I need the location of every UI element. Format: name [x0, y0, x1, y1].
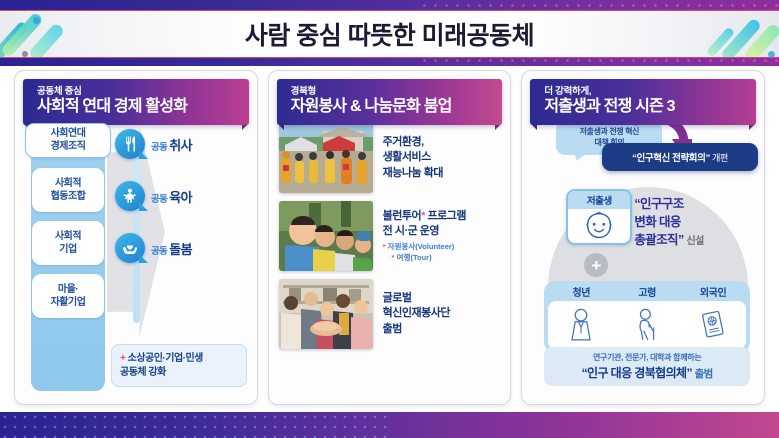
passport-icon: [680, 304, 746, 346]
volunteer-tent-photo: [279, 123, 373, 193]
panel1-footer-line1: 소상공인·기업·민생: [128, 353, 203, 364]
page-title: 사람 중심 따뜻한 미래공동체: [245, 16, 534, 52]
target-group-row: 청년 고령 외국인: [544, 281, 750, 353]
decor-bar-right-2: [743, 22, 779, 58]
media-caption: 글로벌혁신인재봉사단출범: [383, 291, 450, 337]
organization-column: 사회연대경제조직 사회적협동조합 사회적기업 마을·자활기업: [25, 123, 111, 395]
list-item[interactable]: 공동취사: [115, 129, 247, 159]
org-chip-list: 사회적협동조합 사회적기업 마을·자활기업: [25, 168, 111, 318]
panel1-title: 사회적 연대 경제 활성화: [37, 98, 249, 117]
target-label-foreigner: 외국인: [680, 284, 746, 301]
children-group-selfie-photo: [279, 201, 373, 271]
hands-together-photo: [279, 279, 373, 349]
panel3-footer-line1: 연구기관, 전문가, 대학과 함께하는: [548, 352, 746, 363]
list-item[interactable]: 공동돌봄: [115, 233, 247, 263]
panel3-footer-quoted: “인구 대응 경북협의체”: [582, 366, 692, 380]
baby-face-icon: [568, 209, 630, 243]
new-council-tail: 개편: [712, 153, 728, 163]
org-chip-coop[interactable]: 사회적협동조합: [32, 168, 104, 212]
panel3-body: 저출생과 전쟁 혁신대책 회의 “인구혁신 전략회의” 개편 저출생: [522, 115, 764, 397]
panel3-footer-line2: “인구 대응 경북협의체” 출범: [548, 364, 746, 381]
list-item-label: 공동취사: [151, 135, 192, 154]
target-label-elderly: 고령: [614, 284, 680, 301]
new-council-box: “인구혁신 전략회의” 개편: [602, 143, 758, 171]
baby-icon: [115, 181, 145, 211]
bottom-band: [0, 412, 779, 438]
list-item[interactable]: 볼런투어* 프로그램전 시·군 운영 * 자원봉사(Volunteer) * 여…: [279, 201, 501, 271]
target-group-icons: [548, 301, 746, 349]
list-item[interactable]: 공동육아: [115, 181, 247, 211]
media-caption: 볼런투어* 프로그램전 시·군 운영: [383, 209, 466, 239]
title-strip: 사람 중심 따뜻한 미래공동체: [0, 10, 779, 58]
org-header-chip: 사회연대경제조직: [25, 123, 111, 158]
panel1-ribbon-header: 공동체 중심 사회적 연대 경제 활성화: [23, 79, 249, 125]
panel-social-economy: 공동체 중심 사회적 연대 경제 활성화 사회연대경제조직 사회적협동조합 사회…: [14, 70, 258, 405]
bottom-dot-pattern: [0, 412, 390, 438]
elderly-person-icon: [614, 304, 680, 346]
panel2-title: 자원봉사 & 나눔문화 붐업: [291, 98, 503, 117]
young-person-icon: [548, 304, 614, 346]
decor-bar-left-2: [0, 12, 44, 58]
birthrate-card: 저출생: [566, 189, 632, 245]
list-item-label: 공동돌봄: [151, 239, 192, 258]
cutlery-icon: [115, 129, 145, 159]
decor-dot-left-1: [33, 17, 40, 24]
decor-bar-right-1: [720, 17, 762, 58]
new-org-text: “인구구조 변화 대응 총괄조직” 신설: [634, 195, 756, 250]
shared-service-list: 공동취사 공동육아 공동돌봄: [115, 123, 247, 263]
panel3-title: 저출생과 전쟁 시즌 3: [544, 98, 756, 117]
caring-hands-icon: [115, 233, 145, 263]
panel-birthrate-war: 더 강력하게, 저출생과 전쟁 시즌 3 저출생과 전쟁 혁신대책 회의 “인구…: [521, 70, 765, 405]
target-group-labels: 청년 고령 외국인: [548, 284, 746, 301]
org-chip-village[interactable]: 마을·자활기업: [32, 274, 104, 318]
decor-dot-right-1: [768, 51, 775, 58]
new-org-line2: 변화 대응: [634, 215, 680, 229]
panel1-footer-note: + 소상공인·기업·민생 공동체 강화: [111, 344, 247, 387]
panel3-footer-tail: 출범: [695, 368, 713, 380]
decor-bar-left-3: [28, 22, 66, 58]
panel3-subtitle: 더 강력하게,: [544, 87, 756, 98]
new-org-line1: “인구구조: [634, 197, 683, 211]
media-caption: 주거환경,생활서비스재능나눔 확대: [383, 135, 443, 181]
birthrate-card-label: 저출생: [568, 191, 630, 209]
target-label-youth: 청년: [548, 284, 614, 301]
list-item[interactable]: 글로벌혁신인재봉사단출범: [279, 279, 501, 349]
list-item[interactable]: 주거환경,생활서비스재능나눔 확대: [279, 123, 501, 193]
panel1-footer-line2: 공동체 강화: [120, 367, 166, 378]
panel1-body: 사회연대경제조직 사회적협동조합 사회적기업 마을·자활기업 공동취사: [15, 115, 257, 395]
new-council-quoted: “인구혁신 전략회의”: [632, 153, 710, 164]
decor-bar-right-3: [706, 26, 735, 57]
panel2-subtitle: 경북형: [291, 87, 503, 98]
panel3-footer-note: 연구기관, 전문가, 대학과 함께하는 “인구 대응 경북협의체” 출범: [544, 347, 750, 386]
panel3-ribbon-header: 더 강력하게, 저출생과 전쟁 시즌 3: [530, 79, 756, 125]
panel1-subtitle: 공동체 중심: [37, 87, 249, 98]
panel2-ribbon-header: 경북형 자원봉사 & 나눔문화 붐업: [277, 79, 503, 125]
media-footnote: * 자원봉사(Volunteer) * 여행(Tour): [383, 242, 466, 263]
panel2-body: 주거환경,생활서비스재능나눔 확대: [269, 115, 511, 349]
panel-container: 공동체 중심 사회적 연대 경제 활성화 사회연대경제조직 사회적협동조합 사회…: [0, 70, 779, 405]
org-chip-enterprise[interactable]: 사회적기업: [32, 221, 104, 265]
plus-symbol: +: [120, 353, 125, 364]
decor-bar-left-1: [0, 20, 30, 58]
list-item-label: 공동육아: [151, 187, 192, 206]
new-org-line3: 총괄조직”: [634, 233, 683, 247]
new-org-tail: 신설: [686, 236, 703, 247]
panel-volunteer-culture: 경북형 자원봉사 & 나눔문화 붐업: [268, 70, 512, 405]
top-header-band: 사람 중심 따뜻한 미래공동체: [0, 0, 779, 66]
decor-dot-left-2: [22, 51, 28, 57]
